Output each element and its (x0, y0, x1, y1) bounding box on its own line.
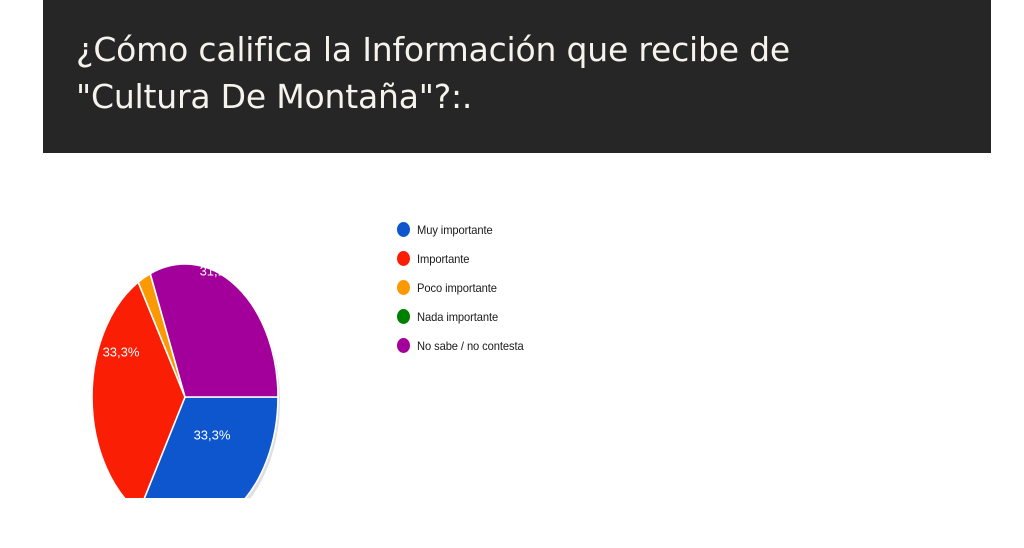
legend-item[interactable]: Muy importante (397, 215, 657, 244)
pie-slice-label: 33,3% (194, 427, 231, 442)
legend-color-swatch-icon (397, 222, 410, 237)
legend-item[interactable]: Poco importante (397, 273, 657, 302)
chart-legend: Muy importanteImportantePoco importanteN… (397, 215, 657, 360)
pie-chart: 33,3%33,3%31,1% (55, 198, 335, 498)
pie-chart-svg: 33,3%33,3%31,1% (55, 198, 335, 498)
legend-item-label: Poco importante (417, 281, 497, 295)
legend-color-swatch-icon (397, 309, 410, 324)
legend-item[interactable]: No sabe / no contesta (397, 331, 657, 360)
title-banner: ¿Cómo califica la Información que recibe… (43, 0, 991, 153)
page-title: ¿Cómo califica la Información que recibe… (43, 27, 991, 127)
pie-slice-label: 31,1% (200, 263, 237, 278)
legend-item-label: Importante (417, 252, 469, 266)
legend-item-label: No sabe / no contesta (417, 339, 524, 353)
legend-item-label: Nada importante (417, 310, 498, 324)
legend-item[interactable]: Nada importante (397, 302, 657, 331)
legend-color-swatch-icon (397, 251, 410, 266)
legend-color-swatch-icon (397, 280, 410, 295)
pie-slice-group (92, 264, 280, 498)
legend-item-label: Muy importante (417, 223, 493, 237)
chart-area: 33,3%33,3%31,1% Muy importanteImportante… (0, 153, 1024, 548)
pie-slice-label: 33,3% (103, 344, 140, 359)
legend-item[interactable]: Importante (397, 244, 657, 273)
legend-color-swatch-icon (397, 338, 410, 353)
